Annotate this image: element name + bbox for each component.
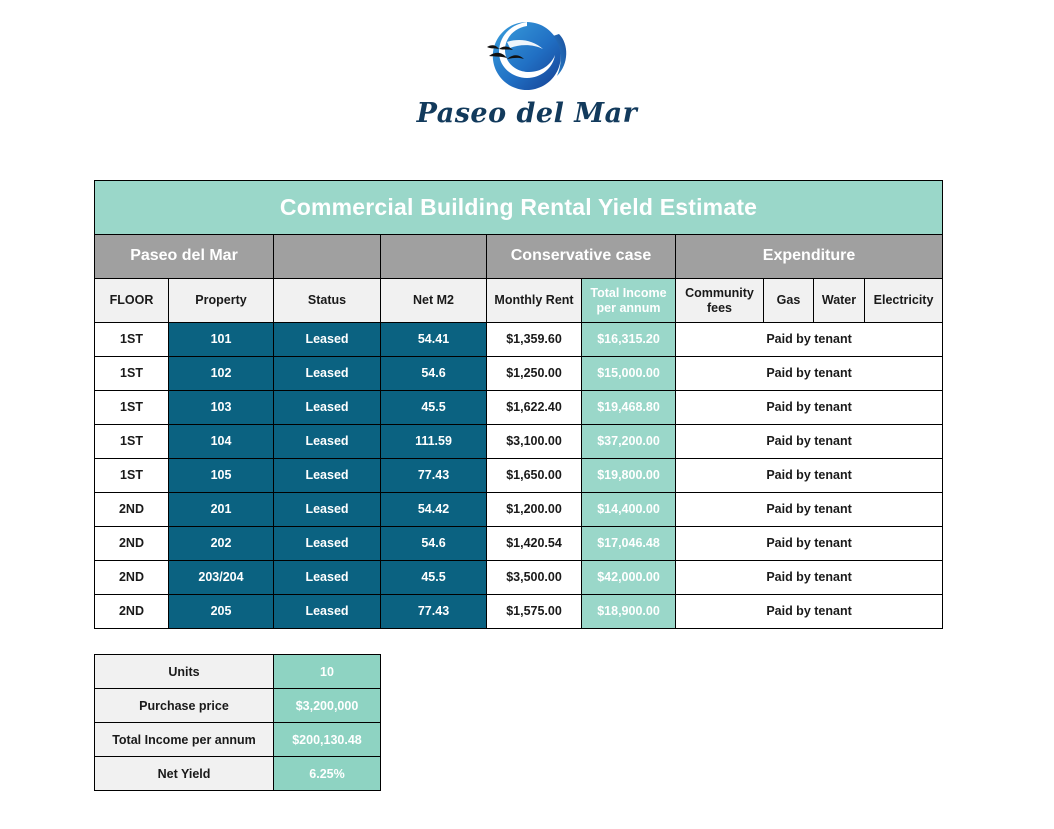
cell-status: Leased bbox=[274, 323, 381, 357]
group-header-property: Paseo del Mar bbox=[95, 235, 274, 279]
table-row: 1ST 105 Leased 77.43 $1,650.00 $19,800.0… bbox=[95, 459, 943, 493]
table-row: 1ST 101 Leased 54.41 $1,359.60 $16,315.2… bbox=[95, 323, 943, 357]
summary-table: Units 10 Purchase price $3,200,000 Total… bbox=[94, 654, 381, 791]
cell-total-income: $19,800.00 bbox=[582, 459, 676, 493]
summary-label-net-yield: Net Yield bbox=[95, 757, 274, 791]
cell-monthly-rent: $1,250.00 bbox=[487, 357, 582, 391]
cell-expenditure: Paid by tenant bbox=[676, 459, 943, 493]
summary-value-purchase-price: $3,200,000 bbox=[274, 689, 381, 723]
community-fees-line-2: fees bbox=[707, 301, 732, 315]
summary-value-units: 10 bbox=[274, 655, 381, 689]
table-row: 1ST 102 Leased 54.6 $1,250.00 $15,000.00… bbox=[95, 357, 943, 391]
table-title-row: Commercial Building Rental Yield Estimat… bbox=[95, 181, 943, 235]
cell-floor: 1ST bbox=[95, 357, 169, 391]
summary-value-net-yield: 6.25% bbox=[274, 757, 381, 791]
cell-total-income: $37,200.00 bbox=[582, 425, 676, 459]
table-row: 2ND 203/204 Leased 45.5 $3,500.00 $42,00… bbox=[95, 561, 943, 595]
cell-property: 205 bbox=[169, 595, 274, 629]
summary-value-total-income: $200,130.48 bbox=[274, 723, 381, 757]
cell-monthly-rent: $3,100.00 bbox=[487, 425, 582, 459]
cell-net-m2: 45.5 bbox=[381, 561, 487, 595]
column-header-monthly-rent: Monthly Rent bbox=[487, 279, 582, 323]
cell-expenditure: Paid by tenant bbox=[676, 357, 943, 391]
brand-logo: Paseo del Mar bbox=[0, 18, 1054, 129]
table-group-header-row: Paseo del Mar Conservative case Expendit… bbox=[95, 235, 943, 279]
cell-monthly-rent: $1,359.60 bbox=[487, 323, 582, 357]
cell-status: Leased bbox=[274, 561, 381, 595]
cell-net-m2: 54.41 bbox=[381, 323, 487, 357]
cell-property: 104 bbox=[169, 425, 274, 459]
summary-label-purchase-price: Purchase price bbox=[95, 689, 274, 723]
cell-status: Leased bbox=[274, 391, 381, 425]
column-header-property: Property bbox=[169, 279, 274, 323]
cell-net-m2: 54.42 bbox=[381, 493, 487, 527]
cell-property: 103 bbox=[169, 391, 274, 425]
cell-expenditure: Paid by tenant bbox=[676, 595, 943, 629]
column-header-community-fees: Community fees bbox=[676, 279, 764, 323]
table-row: 2ND 205 Leased 77.43 $1,575.00 $18,900.0… bbox=[95, 595, 943, 629]
cell-total-income: $42,000.00 bbox=[582, 561, 676, 595]
cell-total-income: $14,400.00 bbox=[582, 493, 676, 527]
cell-monthly-rent: $1,575.00 bbox=[487, 595, 582, 629]
cell-property: 102 bbox=[169, 357, 274, 391]
cell-net-m2: 45.5 bbox=[381, 391, 487, 425]
total-income-line-1: Total Income bbox=[590, 286, 666, 300]
group-header-conservative-case: Conservative case bbox=[487, 235, 676, 279]
cell-floor: 2ND bbox=[95, 595, 169, 629]
column-header-net-m2: Net M2 bbox=[381, 279, 487, 323]
table-row: 2ND 202 Leased 54.6 $1,420.54 $17,046.48… bbox=[95, 527, 943, 561]
wave-birds-logo-icon bbox=[467, 18, 587, 96]
cell-expenditure: Paid by tenant bbox=[676, 561, 943, 595]
cell-expenditure: Paid by tenant bbox=[676, 493, 943, 527]
cell-total-income: $16,315.20 bbox=[582, 323, 676, 357]
cell-expenditure: Paid by tenant bbox=[676, 527, 943, 561]
cell-property: 101 bbox=[169, 323, 274, 357]
brand-wordmark: Paseo del Mar bbox=[417, 98, 638, 129]
cell-net-m2: 77.43 bbox=[381, 595, 487, 629]
cell-status: Leased bbox=[274, 425, 381, 459]
summary-row: Units 10 bbox=[95, 655, 381, 689]
cell-total-income: $15,000.00 bbox=[582, 357, 676, 391]
cell-expenditure: Paid by tenant bbox=[676, 323, 943, 357]
cell-floor: 1ST bbox=[95, 323, 169, 357]
cell-floor: 1ST bbox=[95, 459, 169, 493]
cell-property: 201 bbox=[169, 493, 274, 527]
table-row: 2ND 201 Leased 54.42 $1,200.00 $14,400.0… bbox=[95, 493, 943, 527]
column-header-water: Water bbox=[814, 279, 865, 323]
group-header-blank-netm2 bbox=[381, 235, 487, 279]
table-row: 1ST 103 Leased 45.5 $1,622.40 $19,468.80… bbox=[95, 391, 943, 425]
cell-expenditure: Paid by tenant bbox=[676, 425, 943, 459]
table-column-header-row: FLOOR Property Status Net M2 Monthly Ren… bbox=[95, 279, 943, 323]
table-row: 1ST 104 Leased 111.59 $3,100.00 $37,200.… bbox=[95, 425, 943, 459]
column-header-total-income: Total Income per annum bbox=[582, 279, 676, 323]
rental-yield-table: Commercial Building Rental Yield Estimat… bbox=[94, 180, 943, 629]
total-income-line-2: per annum bbox=[597, 301, 661, 315]
cell-expenditure: Paid by tenant bbox=[676, 391, 943, 425]
cell-monthly-rent: $3,500.00 bbox=[487, 561, 582, 595]
cell-net-m2: 77.43 bbox=[381, 459, 487, 493]
cell-total-income: $18,900.00 bbox=[582, 595, 676, 629]
cell-floor: 2ND bbox=[95, 527, 169, 561]
cell-total-income: $19,468.80 bbox=[582, 391, 676, 425]
community-fees-line-1: Community bbox=[685, 286, 754, 300]
cell-floor: 1ST bbox=[95, 425, 169, 459]
cell-monthly-rent: $1,200.00 bbox=[487, 493, 582, 527]
cell-net-m2: 54.6 bbox=[381, 357, 487, 391]
summary-row: Net Yield 6.25% bbox=[95, 757, 381, 791]
summary-row: Purchase price $3,200,000 bbox=[95, 689, 381, 723]
cell-status: Leased bbox=[274, 357, 381, 391]
cell-status: Leased bbox=[274, 493, 381, 527]
column-header-status: Status bbox=[274, 279, 381, 323]
column-header-electricity: Electricity bbox=[865, 279, 943, 323]
cell-property: 203/204 bbox=[169, 561, 274, 595]
cell-property: 105 bbox=[169, 459, 274, 493]
cell-monthly-rent: $1,420.54 bbox=[487, 527, 582, 561]
cell-status: Leased bbox=[274, 595, 381, 629]
cell-monthly-rent: $1,622.40 bbox=[487, 391, 582, 425]
cell-status: Leased bbox=[274, 527, 381, 561]
cell-floor: 2ND bbox=[95, 561, 169, 595]
cell-floor: 2ND bbox=[95, 493, 169, 527]
cell-total-income: $17,046.48 bbox=[582, 527, 676, 561]
cell-net-m2: 111.59 bbox=[381, 425, 487, 459]
cell-property: 202 bbox=[169, 527, 274, 561]
cell-net-m2: 54.6 bbox=[381, 527, 487, 561]
column-header-floor: FLOOR bbox=[95, 279, 169, 323]
group-header-expenditure: Expenditure bbox=[676, 235, 943, 279]
summary-label-units: Units bbox=[95, 655, 274, 689]
summary-row: Total Income per annum $200,130.48 bbox=[95, 723, 381, 757]
cell-status: Leased bbox=[274, 459, 381, 493]
cell-monthly-rent: $1,650.00 bbox=[487, 459, 582, 493]
column-header-gas: Gas bbox=[764, 279, 814, 323]
group-header-blank-status bbox=[274, 235, 381, 279]
cell-floor: 1ST bbox=[95, 391, 169, 425]
page-title: Commercial Building Rental Yield Estimat… bbox=[95, 181, 943, 235]
summary-label-total-income: Total Income per annum bbox=[95, 723, 274, 757]
